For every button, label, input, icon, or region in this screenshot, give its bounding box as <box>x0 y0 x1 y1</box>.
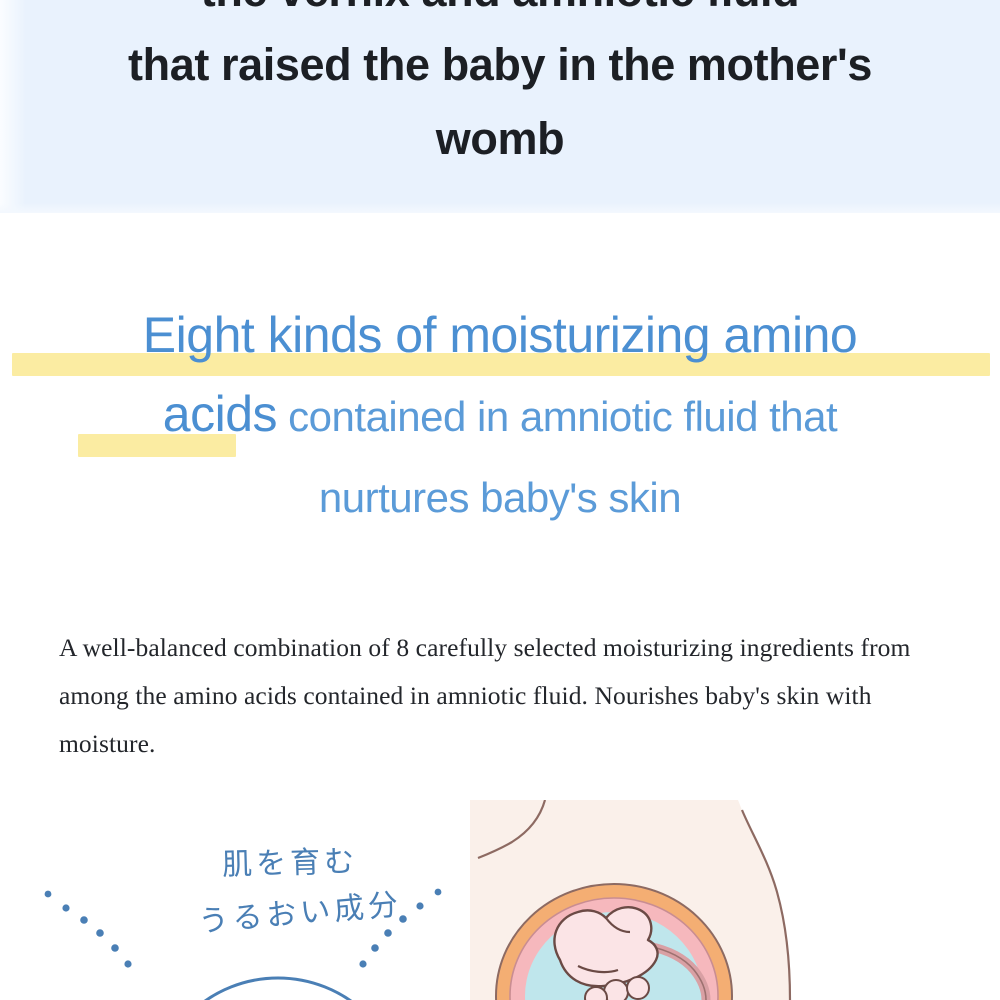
headline-line-3-text: nurtures baby's skin <box>319 474 681 521</box>
banner-bottom-fade <box>0 203 1000 213</box>
top-banner: the vernix and amniotic fluid that raise… <box>0 0 1000 213</box>
headline-line-3: nurtures baby's skin <box>0 456 1000 537</box>
headline-line-2-rest: contained in amniotic fluid that <box>277 393 837 440</box>
womb-illustration <box>470 800 790 1000</box>
body-paragraph: A well-balanced combination of 8 careful… <box>59 624 939 768</box>
jp-caption-line-1: 肌を育む <box>221 836 358 884</box>
sparkle-dots-left <box>45 891 132 968</box>
bottom-illustration <box>0 800 1000 1000</box>
headline-line-2: acids contained in amniotic fluid that <box>0 375 1000 456</box>
headline-emphasis-acids: acids <box>163 375 277 454</box>
banner-headline-text: the vernix and amniotic fluid that raise… <box>0 0 1000 176</box>
blue-circle-outline <box>151 978 405 1000</box>
illustration-svg <box>0 800 1000 1000</box>
section-headline: Eight kinds of moisturizing amino acids … <box>0 296 1000 537</box>
headline-line-1-text: Eight kinds of moisturizing amino <box>143 296 857 375</box>
headline-line-1: Eight kinds of moisturizing amino <box>0 296 1000 375</box>
